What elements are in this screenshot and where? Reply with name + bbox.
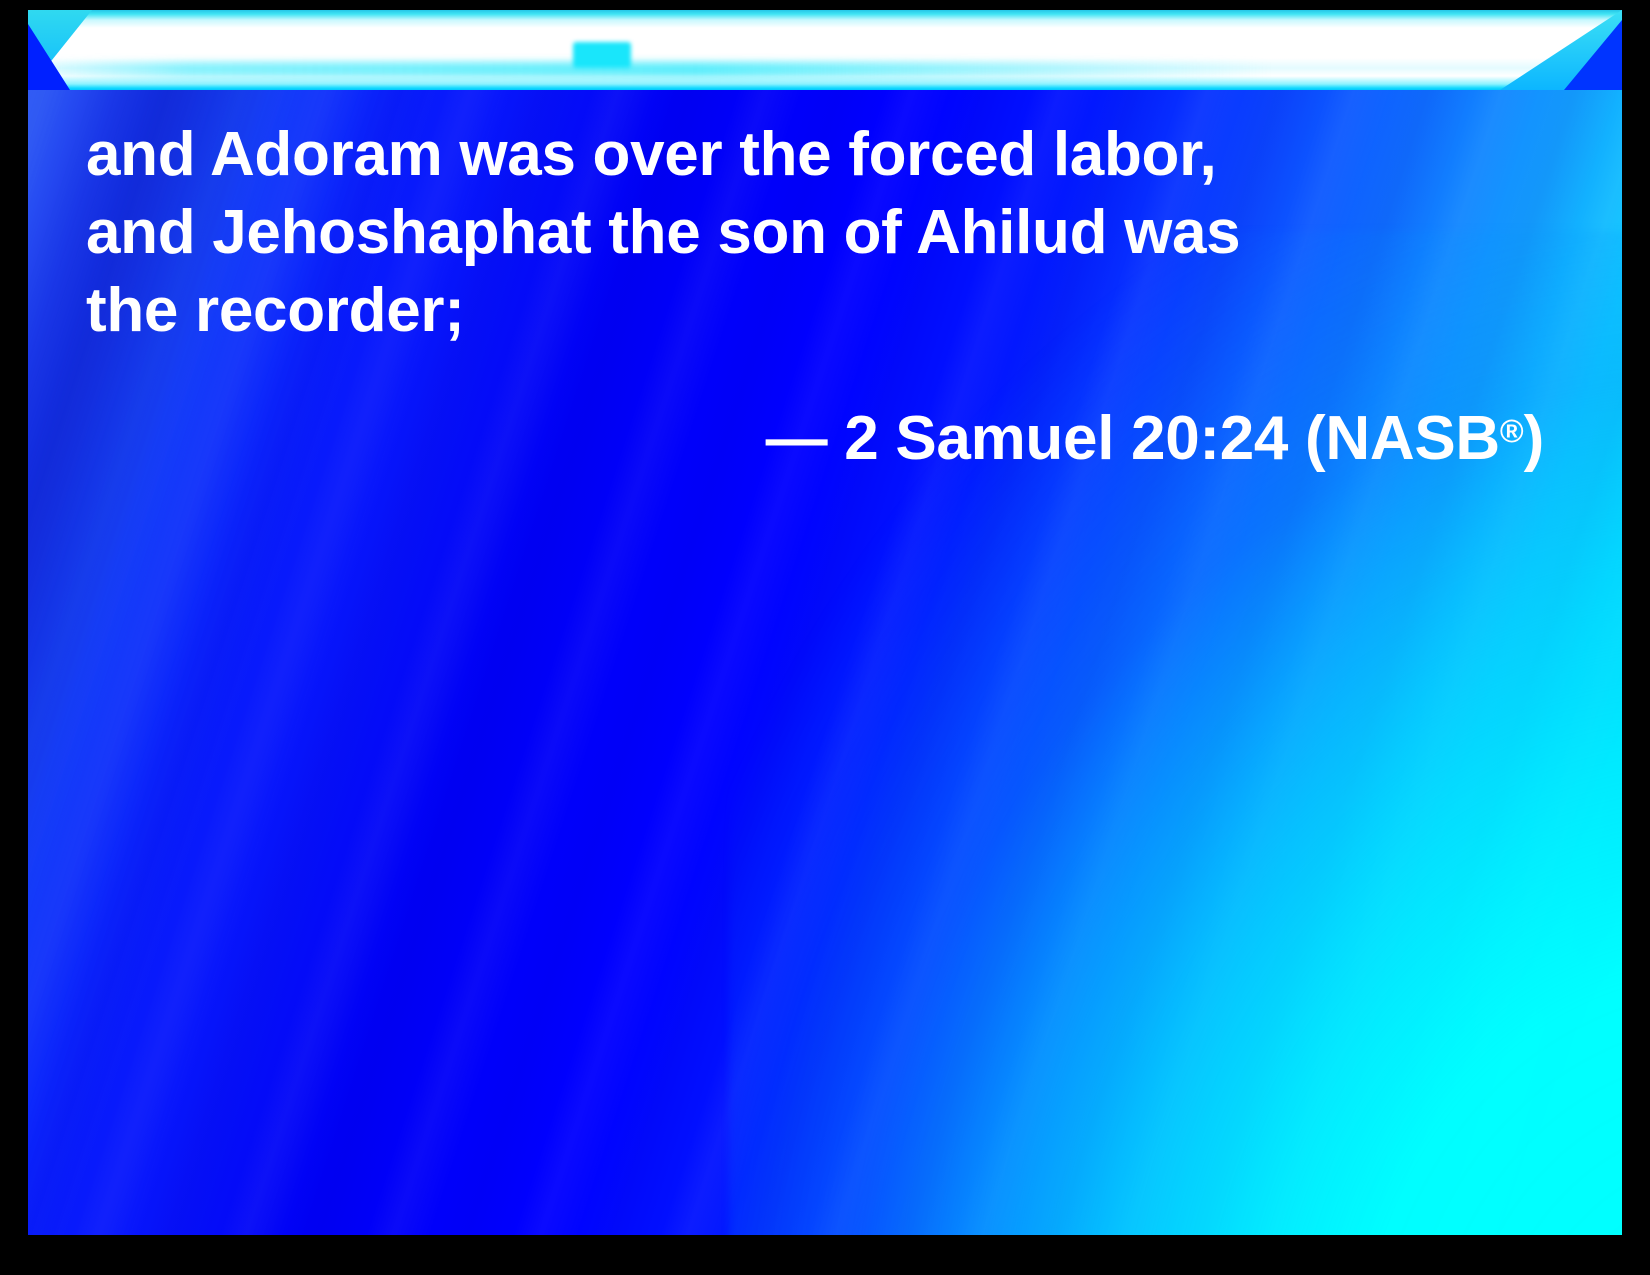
citation-reference: 2 Samuel 20:24 (NASB bbox=[844, 404, 1500, 473]
slide-frame: and Adoram was over the forced labor, an… bbox=[0, 0, 1650, 1275]
verse-line-3: the recorder; bbox=[86, 272, 1556, 350]
citation-em-dash: — bbox=[766, 404, 828, 473]
slide-stage: and Adoram was over the forced labor, an… bbox=[28, 10, 1622, 1235]
header-band bbox=[28, 10, 1622, 90]
citation-closing-paren: ) bbox=[1524, 404, 1544, 473]
registered-trademark-icon: ® bbox=[1500, 413, 1524, 449]
verse-text-block: and Adoram was over the forced labor, an… bbox=[86, 116, 1556, 478]
verse-citation: — 2 Samuel 20:24 (NASB®) bbox=[86, 392, 1556, 478]
header-band-cyan-streak bbox=[28, 62, 1622, 78]
header-band-cyan-notch bbox=[573, 42, 631, 68]
verse-line-1: and Adoram was over the forced labor, bbox=[86, 116, 1556, 194]
verse-line-2: and Jehoshaphat the son of Ahilud was bbox=[86, 194, 1556, 272]
